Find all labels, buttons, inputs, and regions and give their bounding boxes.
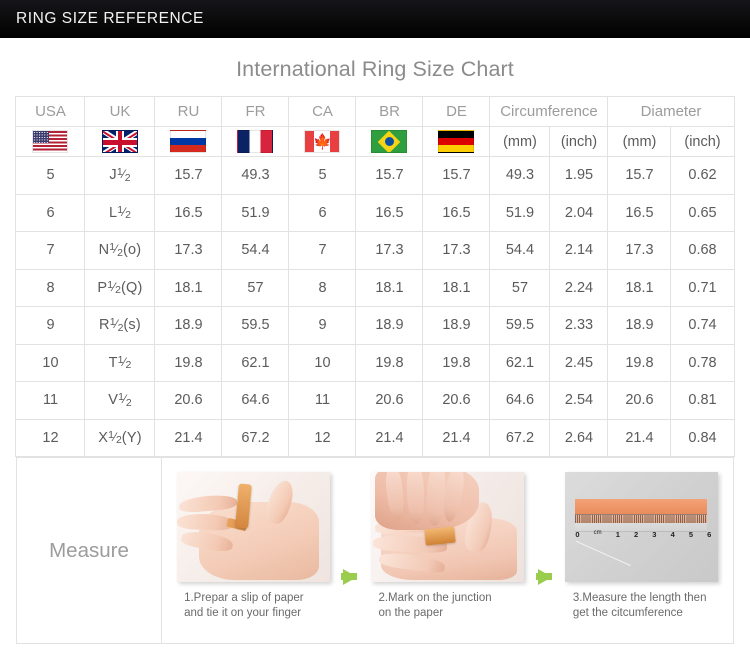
fraction-denominator: 2 bbox=[117, 247, 123, 259]
fraction-denominator: 2 bbox=[126, 397, 132, 409]
cell-diam-mm: 15.7 bbox=[608, 157, 671, 195]
cell-usa: 7 bbox=[16, 232, 85, 270]
cell-circ-inch: 2.04 bbox=[550, 194, 608, 232]
cell-ca: 7 bbox=[289, 232, 356, 270]
cell-ca: 12 bbox=[289, 419, 356, 457]
ruler-tick-2: 2 bbox=[634, 530, 638, 539]
cell-circ-inch: 1.95 bbox=[550, 157, 608, 195]
cell-br: 15.7 bbox=[356, 157, 423, 195]
cell-ru: 19.8 bbox=[155, 344, 222, 382]
flag-cell-usa bbox=[16, 127, 85, 157]
uk-size-fraction: 1⁄2 bbox=[117, 167, 131, 181]
cell-circ-inch: 2.24 bbox=[550, 269, 608, 307]
ruler-tick-cm: cm bbox=[594, 530, 602, 539]
cell-diam-inch: 0.78 bbox=[671, 344, 734, 382]
cell-ru: 15.7 bbox=[155, 157, 222, 195]
step-1-caption-line-1: 1.Prepar a slip of paper bbox=[184, 592, 304, 604]
uk-size-fraction: 1⁄2 bbox=[108, 430, 122, 444]
cell-circ-mm: 62.1 bbox=[490, 344, 550, 382]
fraction-numerator: 1 bbox=[107, 279, 113, 291]
fraction-denominator: 2 bbox=[126, 359, 132, 371]
measure-step-1-caption: 1.Prepar a slip of paper and tie it on y… bbox=[178, 591, 328, 621]
table-flag-row: 🍁 (mm) (inch) (mm) (inch) bbox=[16, 127, 734, 157]
fraction-numerator: 1 bbox=[110, 316, 116, 328]
step-2-caption-line-2: on the paper bbox=[378, 607, 443, 619]
cell-diam-mm: 19.8 bbox=[608, 344, 671, 382]
uk-size-letter: X bbox=[98, 430, 108, 446]
fraction-denominator: 2 bbox=[115, 284, 121, 296]
table-row: 5J1⁄215.749.3515.715.749.31.9515.70.62 bbox=[16, 157, 734, 195]
fraction-denominator: 2 bbox=[125, 172, 131, 184]
chart-heading: International Ring Size Chart bbox=[0, 38, 750, 96]
table-row: 11V1⁄220.664.61120.620.664.62.5420.60.81 bbox=[16, 382, 734, 420]
col-header-diameter: Diameter bbox=[608, 97, 734, 127]
ruler-tick-4: 4 bbox=[671, 530, 675, 539]
uk-size-fraction: 1⁄2 bbox=[117, 205, 131, 219]
header-bar: RING SIZE REFERENCE bbox=[0, 0, 750, 38]
page-title: RING SIZE REFERENCE bbox=[0, 10, 204, 28]
cell-uk: L1⁄2 bbox=[85, 194, 155, 232]
cell-de: 17.3 bbox=[423, 232, 490, 270]
cell-diam-inch: 0.74 bbox=[671, 307, 734, 345]
fr-flag-icon bbox=[237, 130, 273, 153]
flag-cell-uk bbox=[85, 127, 155, 157]
cell-ru: 20.6 bbox=[155, 382, 222, 420]
cell-usa: 8 bbox=[16, 269, 85, 307]
ruler-tick-1: 1 bbox=[616, 530, 620, 539]
cell-diam-mm: 18.1 bbox=[608, 269, 671, 307]
cell-usa: 6 bbox=[16, 194, 85, 232]
cell-uk: P1⁄2(Q) bbox=[85, 269, 155, 307]
cell-br: 18.9 bbox=[356, 307, 423, 345]
cell-fr: 49.3 bbox=[222, 157, 289, 195]
cell-fr: 64.6 bbox=[222, 382, 289, 420]
cell-br: 21.4 bbox=[356, 419, 423, 457]
ca-flag-icon: 🍁 bbox=[304, 130, 340, 153]
uk-flag-icon bbox=[102, 130, 138, 153]
cell-fr: 59.5 bbox=[222, 307, 289, 345]
col-header-uk: UK bbox=[85, 97, 155, 127]
cell-diam-mm: 17.3 bbox=[608, 232, 671, 270]
cell-ru: 18.9 bbox=[155, 307, 222, 345]
table-row: 6L1⁄216.551.9616.516.551.92.0416.50.65 bbox=[16, 194, 734, 232]
cell-diam-inch: 0.68 bbox=[671, 232, 734, 270]
us-flag-icon bbox=[32, 130, 68, 153]
flag-cell-ca: 🍁 bbox=[289, 127, 356, 157]
ruler-measuring-photo: 0cm123456 bbox=[565, 472, 718, 582]
fraction-numerator: 1 bbox=[118, 391, 124, 403]
uk-size-fraction: 1⁄2 bbox=[118, 392, 132, 406]
cell-ru: 16.5 bbox=[155, 194, 222, 232]
cell-usa: 5 bbox=[16, 157, 85, 195]
cell-uk: T1⁄2 bbox=[85, 344, 155, 382]
table-header-row: USA UK RU FR CA BR DE Circumference Diam… bbox=[16, 97, 734, 127]
col-header-de: DE bbox=[423, 97, 490, 127]
cell-circ-mm: 57 bbox=[490, 269, 550, 307]
cell-de: 18.9 bbox=[423, 307, 490, 345]
col-header-circumference: Circumference bbox=[490, 97, 608, 127]
col-header-br: BR bbox=[356, 97, 423, 127]
cell-diam-mm: 21.4 bbox=[608, 419, 671, 457]
uk-size-letter: R bbox=[99, 317, 110, 333]
measure-steps: 1.Prepar a slip of paper and tie it on y… bbox=[162, 458, 733, 643]
unit-diameter-mm: (mm) bbox=[608, 127, 671, 157]
cell-diam-inch: 0.84 bbox=[671, 419, 734, 457]
measure-step-3: 0cm123456 3.Measure the length then get … bbox=[562, 472, 722, 621]
fraction-numerator: 1 bbox=[118, 354, 124, 366]
col-header-ru: RU bbox=[155, 97, 222, 127]
cell-circ-mm: 51.9 bbox=[490, 194, 550, 232]
cell-de: 20.6 bbox=[423, 382, 490, 420]
cell-circ-mm: 64.6 bbox=[490, 382, 550, 420]
uk-size-letter: N bbox=[99, 242, 110, 258]
ring-size-table: USA UK RU FR CA BR DE Circumference Diam… bbox=[15, 96, 734, 457]
cell-ca: 11 bbox=[289, 382, 356, 420]
step-2-caption-line-1: 2.Mark on the junction bbox=[378, 592, 491, 604]
measure-steps-cell: 1.Prepar a slip of paper and tie it on y… bbox=[162, 458, 734, 644]
uk-size-letter: T bbox=[109, 355, 118, 371]
cell-circ-inch: 2.64 bbox=[550, 419, 608, 457]
measure-step-3-caption: 3.Measure the length then get the citcum… bbox=[567, 591, 717, 621]
flag-cell-ru bbox=[155, 127, 222, 157]
cell-diam-inch: 0.81 bbox=[671, 382, 734, 420]
cell-circ-inch: 2.45 bbox=[550, 344, 608, 382]
cell-ru: 21.4 bbox=[155, 419, 222, 457]
cell-fr: 54.4 bbox=[222, 232, 289, 270]
cell-de: 16.5 bbox=[423, 194, 490, 232]
cell-uk: V1⁄2 bbox=[85, 382, 155, 420]
cell-diam-inch: 0.62 bbox=[671, 157, 734, 195]
cell-circ-inch: 2.14 bbox=[550, 232, 608, 270]
col-header-usa: USA bbox=[16, 97, 85, 127]
cell-de: 21.4 bbox=[423, 419, 490, 457]
uk-size-letter: J bbox=[109, 167, 116, 183]
cell-de: 18.1 bbox=[423, 269, 490, 307]
table-row: 7N1⁄2(o)17.354.4717.317.354.42.1417.30.6… bbox=[16, 232, 734, 270]
cell-diam-mm: 20.6 bbox=[608, 382, 671, 420]
uk-size-fraction: 1⁄2 bbox=[118, 355, 132, 369]
hand-with-paper-strip-photo bbox=[177, 472, 330, 582]
cell-uk: X1⁄2(Y) bbox=[85, 419, 155, 457]
ruler-tick-6: 6 bbox=[707, 530, 711, 539]
cell-circ-inch: 2.54 bbox=[550, 382, 608, 420]
cell-uk: R1⁄2(s) bbox=[85, 307, 155, 345]
unit-diameter-inch: (inch) bbox=[671, 127, 734, 157]
uk-size-fraction: 1⁄2 bbox=[109, 242, 123, 256]
arrow-right-icon-2 bbox=[538, 569, 552, 585]
unit-circumference-mm: (mm) bbox=[490, 127, 550, 157]
cell-uk: N1⁄2(o) bbox=[85, 232, 155, 270]
step-3-caption-line-2: get the citcumference bbox=[573, 607, 683, 619]
uk-size-alt: (Q) bbox=[121, 280, 143, 296]
cell-diam-mm: 18.9 bbox=[608, 307, 671, 345]
marking-junction-photo bbox=[371, 472, 524, 582]
cell-ca: 9 bbox=[289, 307, 356, 345]
cell-uk: J1⁄2 bbox=[85, 157, 155, 195]
cell-ca: 5 bbox=[289, 157, 356, 195]
cell-br: 17.3 bbox=[356, 232, 423, 270]
de-flag-icon bbox=[438, 130, 474, 153]
fraction-denominator: 2 bbox=[118, 322, 124, 334]
cell-circ-mm: 49.3 bbox=[490, 157, 550, 195]
cell-fr: 62.1 bbox=[222, 344, 289, 382]
cell-br: 18.1 bbox=[356, 269, 423, 307]
fraction-numerator: 1 bbox=[109, 241, 115, 253]
table-row: 9R1⁄2(s)18.959.5918.918.959.52.3318.90.7… bbox=[16, 307, 734, 345]
cell-de: 19.8 bbox=[423, 344, 490, 382]
cell-usa: 12 bbox=[16, 419, 85, 457]
measure-step-2: 2.Mark on the junction on the paper bbox=[367, 472, 527, 621]
fraction-numerator: 1 bbox=[108, 429, 114, 441]
uk-size-alt: (Y) bbox=[122, 430, 142, 446]
table-body: 5J1⁄215.749.3515.715.749.31.9515.70.626L… bbox=[16, 157, 734, 457]
table-row: 12X1⁄2(Y)21.467.21221.421.467.22.6421.40… bbox=[16, 419, 734, 457]
cell-usa: 11 bbox=[16, 382, 85, 420]
cell-de: 15.7 bbox=[423, 157, 490, 195]
br-flag-icon bbox=[371, 130, 407, 153]
cell-ru: 18.1 bbox=[155, 269, 222, 307]
fraction-denominator: 2 bbox=[125, 209, 131, 221]
step-3-caption-line-1: 3.Measure the length then bbox=[573, 592, 707, 604]
unit-circumference-inch: (inch) bbox=[550, 127, 608, 157]
cell-usa: 9 bbox=[16, 307, 85, 345]
uk-size-alt: (o) bbox=[123, 242, 141, 258]
cell-circ-inch: 2.33 bbox=[550, 307, 608, 345]
measure-label: Measure bbox=[17, 458, 162, 644]
flag-cell-de bbox=[423, 127, 490, 157]
table-row: 8P1⁄2(Q)18.157818.118.1572.2418.10.71 bbox=[16, 269, 734, 307]
fraction-denominator: 2 bbox=[116, 434, 122, 446]
cell-circ-mm: 59.5 bbox=[490, 307, 550, 345]
step-1-caption-line-2: and tie it on your finger bbox=[184, 607, 301, 619]
ruler-tick-0: 0 bbox=[575, 530, 579, 539]
cell-br: 20.6 bbox=[356, 382, 423, 420]
uk-size-alt: (s) bbox=[123, 317, 141, 333]
ru-flag-icon bbox=[170, 130, 206, 153]
cell-ca: 8 bbox=[289, 269, 356, 307]
uk-size-fraction: 1⁄2 bbox=[107, 280, 121, 294]
measure-step-2-caption: 2.Mark on the junction on the paper bbox=[372, 591, 522, 621]
cell-circ-mm: 67.2 bbox=[490, 419, 550, 457]
arrow-right-icon-1 bbox=[343, 569, 357, 585]
cell-usa: 10 bbox=[16, 344, 85, 382]
ruler-tick-labels: 0cm123456 bbox=[575, 530, 711, 539]
cell-ca: 10 bbox=[289, 344, 356, 382]
ruler-tick-5: 5 bbox=[689, 530, 693, 539]
cell-circ-mm: 54.4 bbox=[490, 232, 550, 270]
ruler-tick-3: 3 bbox=[652, 530, 656, 539]
fraction-numerator: 1 bbox=[117, 204, 123, 216]
flag-cell-fr bbox=[222, 127, 289, 157]
cell-fr: 67.2 bbox=[222, 419, 289, 457]
uk-size-letter: V bbox=[108, 392, 118, 408]
fraction-numerator: 1 bbox=[117, 166, 123, 178]
uk-size-letter: P bbox=[97, 280, 107, 296]
measure-section: Measure 1.Prepar a slip of paper and tie… bbox=[16, 457, 734, 644]
cell-ru: 17.3 bbox=[155, 232, 222, 270]
uk-size-fraction: 1⁄2 bbox=[110, 317, 124, 331]
flag-cell-br bbox=[356, 127, 423, 157]
cell-br: 19.8 bbox=[356, 344, 423, 382]
cell-diam-mm: 16.5 bbox=[608, 194, 671, 232]
col-header-ca: CA bbox=[289, 97, 356, 127]
measure-step-1: 1.Prepar a slip of paper and tie it on y… bbox=[173, 472, 333, 621]
cell-br: 16.5 bbox=[356, 194, 423, 232]
col-header-fr: FR bbox=[222, 97, 289, 127]
cell-ca: 6 bbox=[289, 194, 356, 232]
cell-diam-inch: 0.71 bbox=[671, 269, 734, 307]
table-row: 10T1⁄219.862.11019.819.862.12.4519.80.78 bbox=[16, 344, 734, 382]
cell-fr: 51.9 bbox=[222, 194, 289, 232]
cell-diam-inch: 0.65 bbox=[671, 194, 734, 232]
cell-fr: 57 bbox=[222, 269, 289, 307]
